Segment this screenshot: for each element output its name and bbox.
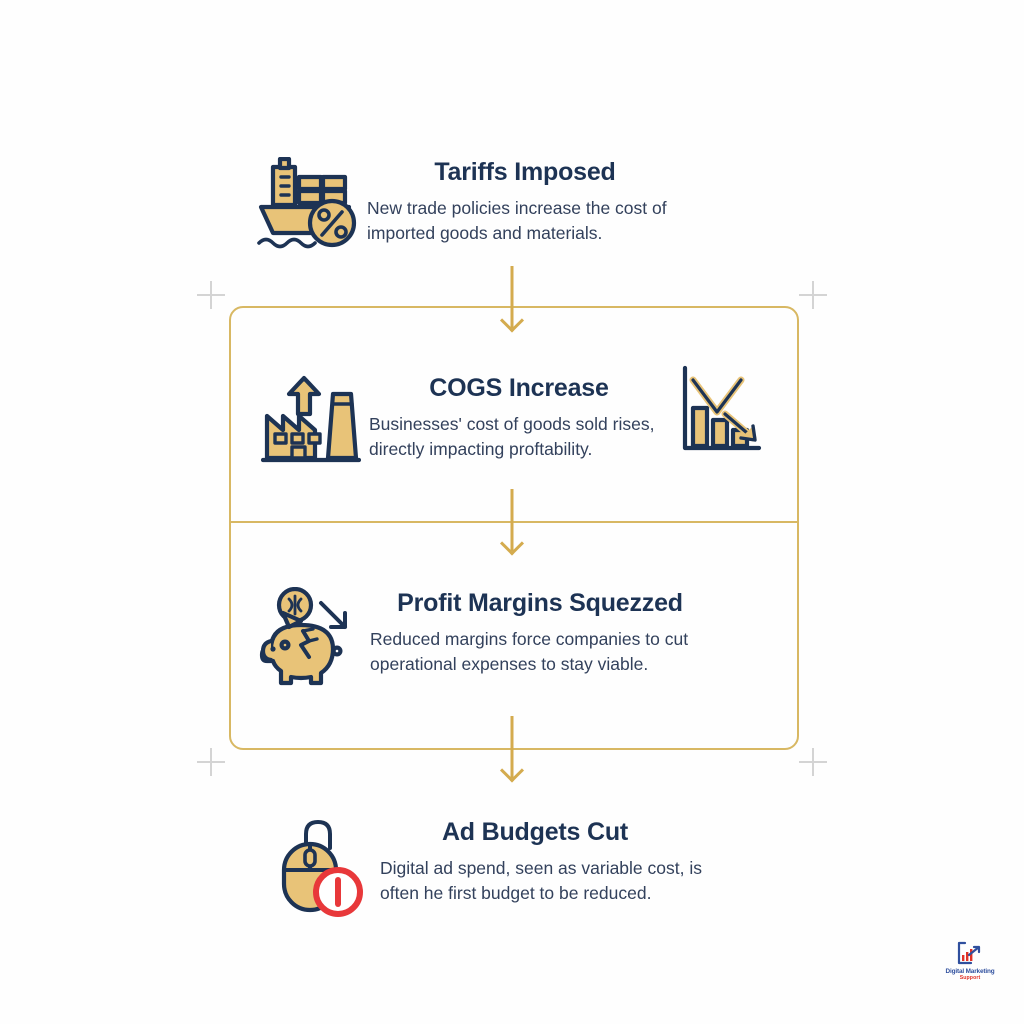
step-tariffs-imposed: Tariffs Imposed New trade policies incre… <box>255 156 775 256</box>
step-text-block: Profit Margins Squezzed Reduced margins … <box>370 587 710 676</box>
connector-margins-to-adbudgets <box>495 716 529 792</box>
connector-cogs-to-margins <box>495 489 529 565</box>
factory-up-arrow-icon <box>259 372 363 472</box>
step-text-block: Tariffs Imposed New trade policies incre… <box>367 156 683 245</box>
plus-mark-top-left <box>197 281 225 309</box>
cracked-piggy-bank-icon <box>258 587 362 687</box>
step-description: New trade policies increase the cost of … <box>367 196 683 246</box>
step-title: Profit Margins Squezzed <box>370 589 710 618</box>
step-text-block: COGS Increase Businesses' cost of goods … <box>369 372 669 461</box>
plus-mark-bottom-right <box>799 748 827 776</box>
declining-bar-chart-icon <box>679 364 763 454</box>
cargo-ship-percent-icon <box>255 156 359 256</box>
step-description: Reduced margins force companies to cut o… <box>370 627 710 677</box>
computer-mouse-blocked-icon <box>268 816 372 916</box>
step-profit-margins-squeezed: Profit Margins Squezzed Reduced margins … <box>258 587 788 687</box>
step-text-block: Ad Budgets Cut Digital ad spend, seen as… <box>380 816 702 905</box>
plus-mark-top-right <box>799 281 827 309</box>
step-ad-budgets-cut: Ad Budgets Cut Digital ad spend, seen as… <box>268 816 788 916</box>
plus-mark-bottom-left <box>197 748 225 776</box>
step-title: Ad Budgets Cut <box>380 818 690 847</box>
logo-text-secondary: Support <box>960 975 981 981</box>
step-description: Digital ad spend, seen as variable cost,… <box>380 856 702 906</box>
step-title: Tariffs Imposed <box>367 158 683 187</box>
connector-arrowhead-icon <box>500 308 524 332</box>
bar-chart-arrow-icon <box>955 941 985 967</box>
infographic-canvas: Tariffs Imposed New trade policies incre… <box>0 0 1024 1024</box>
step-title: COGS Increase <box>369 374 669 403</box>
connector-tariffs-to-cogs <box>495 266 529 342</box>
logo-text-primary: Digital Marketing <box>946 968 995 975</box>
brand-logo: Digital Marketing Support <box>941 941 999 989</box>
connector-arrowhead-icon <box>500 531 524 555</box>
step-description: Businesses' cost of goods sold rises, di… <box>369 412 669 462</box>
connector-arrowhead-icon <box>500 758 524 782</box>
